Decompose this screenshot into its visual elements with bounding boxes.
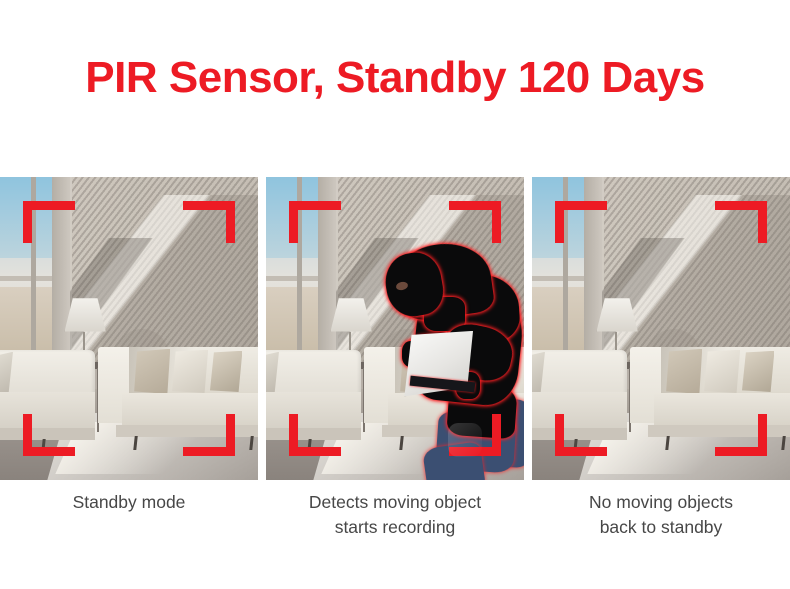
window-sill: [532, 276, 586, 281]
window-sky: [532, 177, 586, 258]
sofa-pillow: [134, 349, 170, 394]
sofa-seat: [532, 392, 627, 432]
panel-detecting: [266, 177, 524, 480]
window-sky: [0, 177, 54, 258]
sofa-left: [0, 350, 95, 450]
intruder-jeans-highlight: [448, 423, 482, 457]
sofa-skirt: [266, 428, 361, 440]
sofa-skirt: [0, 428, 95, 440]
sofa-leg: [781, 436, 786, 450]
sofa-right: [98, 347, 258, 450]
page-title: PIR Sensor, Standby 120 Days: [0, 52, 790, 104]
sofa-seat: [0, 392, 95, 432]
sofa-back: [266, 350, 361, 396]
detected-intruder: [369, 244, 524, 480]
sofa-pillow: [704, 350, 740, 393]
caption-row: Standby mode Detects moving object start…: [0, 490, 790, 560]
caption-line-1: Detects moving object: [309, 492, 481, 512]
sofa-leg: [665, 436, 670, 450]
sofa-leg: [133, 436, 138, 450]
sofa-seat: [266, 392, 361, 432]
panel-strip: [0, 177, 790, 480]
caption-line-2: back to standby: [532, 515, 790, 540]
caption-line-1: Standby mode: [73, 492, 186, 512]
window-lower-pane: [0, 287, 54, 354]
sofa-back: [0, 350, 95, 396]
room-scene: [0, 177, 258, 480]
sofa-leg: [249, 436, 254, 450]
pir-sensor-feature-graphic: PIR Sensor, Standby 120 Days: [0, 0, 790, 589]
panel-standby-before: [0, 177, 258, 480]
sofa-right: [630, 347, 790, 450]
sofa-pillow: [666, 349, 702, 394]
window-sill: [0, 276, 54, 281]
caption-panel-1: Standby mode: [0, 490, 258, 515]
sofa-pillow: [210, 351, 243, 392]
caption-panel-2: Detects moving object starts recording: [266, 490, 524, 540]
caption-line-1: No moving objects: [589, 492, 733, 512]
room-scene: [266, 177, 524, 480]
sofa-left: [532, 350, 627, 450]
sofa-skirt: [532, 428, 627, 440]
room-scene: [532, 177, 790, 480]
window-sky: [266, 177, 320, 258]
caption-line-2: starts recording: [266, 515, 524, 540]
window-sill: [266, 276, 320, 281]
sofa-back: [532, 350, 627, 396]
window-lower-pane: [266, 287, 320, 354]
panel-standby-after: [532, 177, 790, 480]
caption-panel-3: No moving objects back to standby: [532, 490, 790, 540]
window-lower-pane: [532, 287, 586, 354]
sofa-pillow: [172, 350, 208, 393]
sofa-left: [266, 350, 361, 450]
sofa-pillow: [742, 351, 775, 392]
